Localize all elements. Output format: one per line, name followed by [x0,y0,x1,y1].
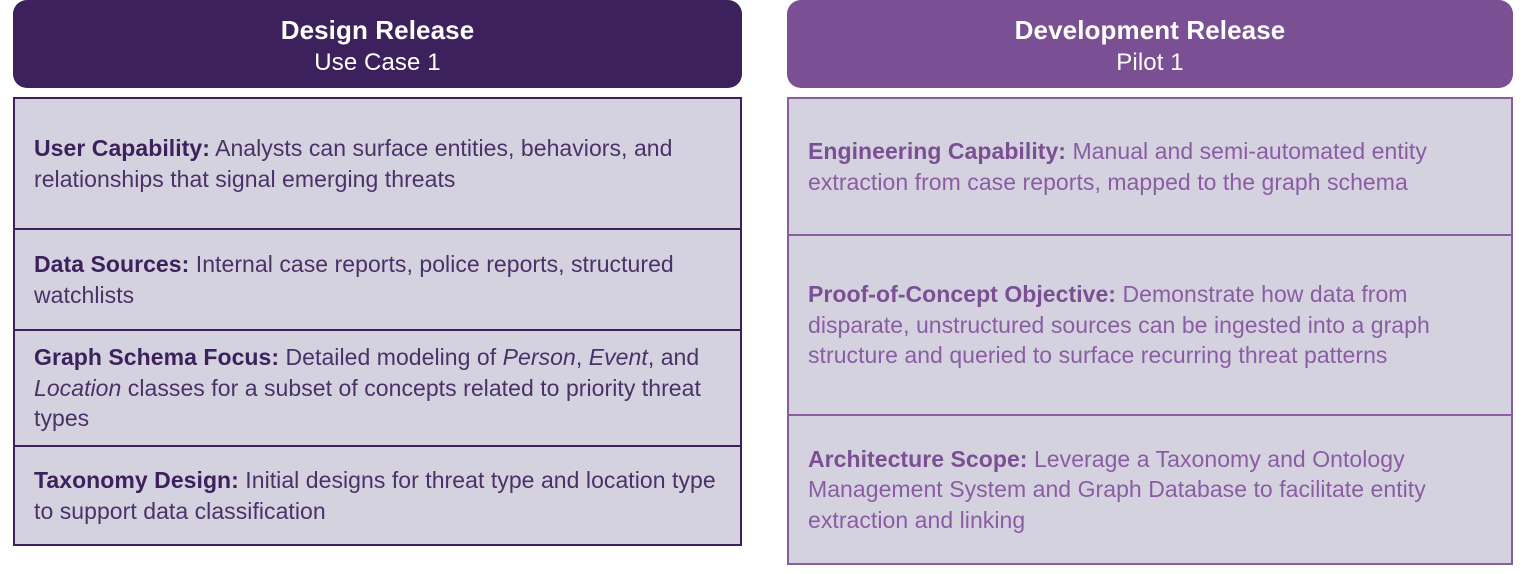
table-row: Proof-of-Concept Objective: Demonstrate … [789,234,1511,414]
row-label: Graph Schema Focus: [34,344,279,370]
row-label: Proof-of-Concept Objective: [808,281,1116,307]
table-row: Architecture Scope: Leverage a Taxonomy … [789,414,1511,563]
table-row: Taxonomy Design: Initial designs for thr… [15,445,740,544]
row-label: Architecture Scope: [808,446,1028,472]
development-release-table: Engineering Capability: Manual and semi-… [787,97,1513,565]
design-release-column: Design Release Use Case 1 User Capabilit… [13,0,742,546]
release-comparison-board: Design Release Use Case 1 User Capabilit… [0,0,1528,574]
design-release-title: Design Release [25,14,730,47]
row-content: Architecture Scope: Leverage a Taxonomy … [808,444,1493,536]
row-label: Engineering Capability: [808,138,1066,164]
table-row: Engineering Capability: Manual and semi-… [789,99,1511,234]
design-release-table: User Capability: Analysts can surface en… [13,97,742,546]
design-release-subtitle: Use Case 1 [25,47,730,78]
row-content: Taxonomy Design: Initial designs for thr… [34,465,722,526]
table-row: Graph Schema Focus: Detailed modeling of… [15,329,740,445]
development-release-column: Development Release Pilot 1 Engineering … [787,0,1513,565]
row-content: Proof-of-Concept Objective: Demonstrate … [808,279,1493,371]
table-row: User Capability: Analysts can surface en… [15,99,740,228]
row-label: Taxonomy Design: [34,467,239,493]
row-content: User Capability: Analysts can surface en… [34,133,722,194]
row-content: Engineering Capability: Manual and semi-… [808,136,1493,197]
row-label: User Capability: [34,135,210,161]
row-label: Data Sources: [34,251,189,277]
development-release-subtitle: Pilot 1 [799,47,1501,78]
design-release-header: Design Release Use Case 1 [13,0,742,88]
row-content: Data Sources: Internal case reports, pol… [34,249,722,310]
development-release-header: Development Release Pilot 1 [787,0,1513,88]
development-release-title: Development Release [799,14,1501,47]
table-row: Data Sources: Internal case reports, pol… [15,228,740,329]
row-content: Graph Schema Focus: Detailed modeling of… [34,342,722,434]
